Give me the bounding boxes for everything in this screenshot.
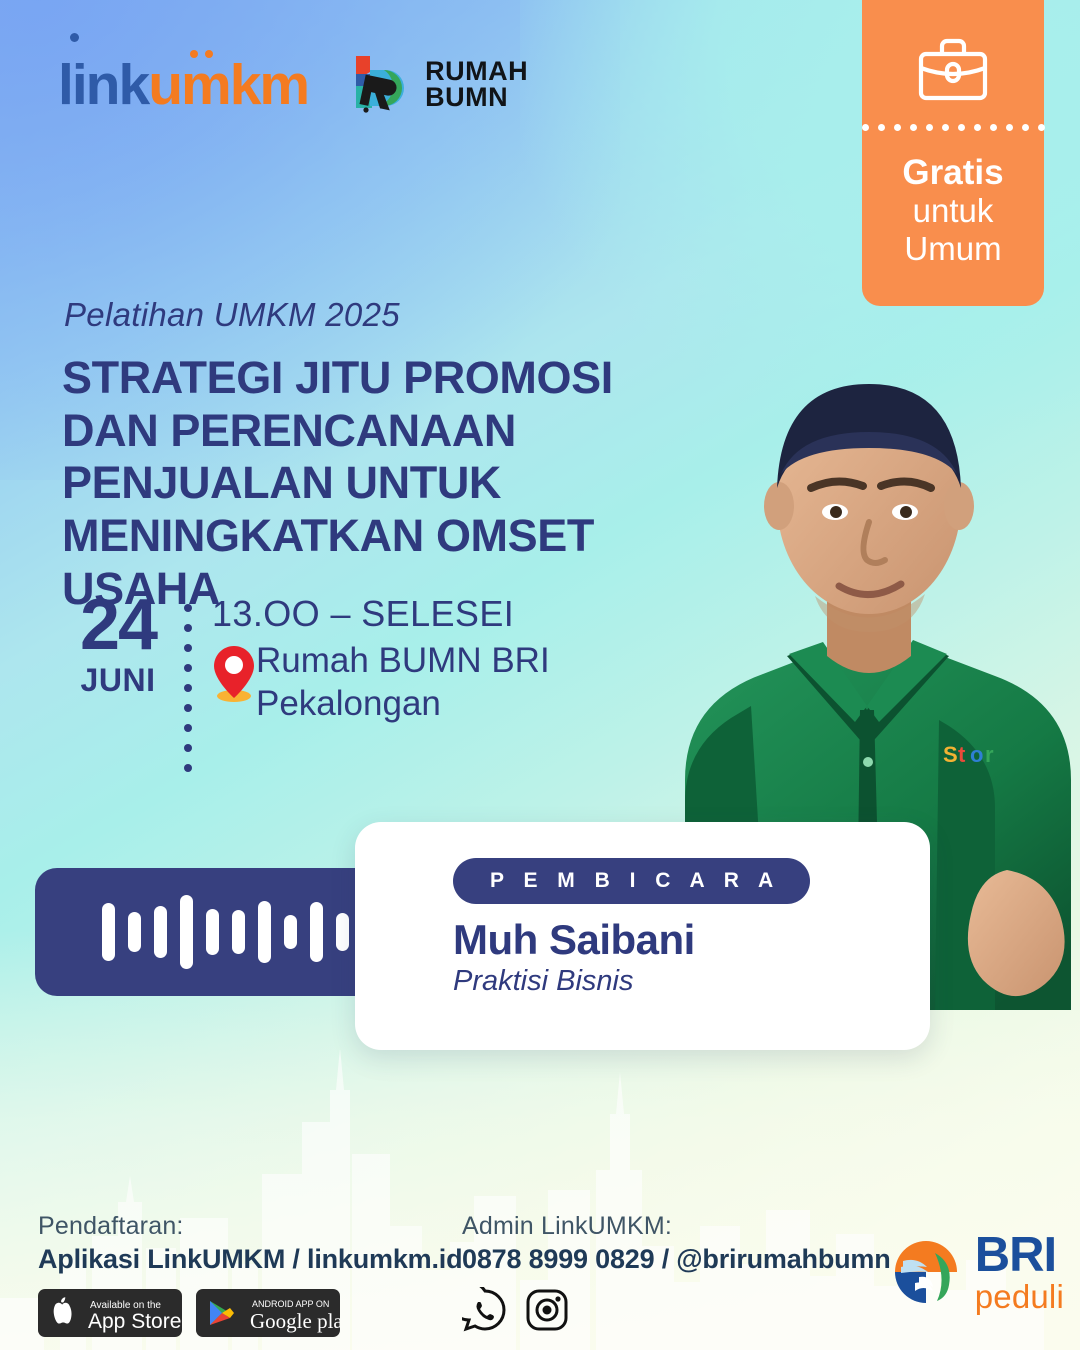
pembicara-badge: P E M B I C A R A	[453, 858, 810, 904]
bri-logo-line1: BRI	[975, 1232, 1064, 1279]
admin-contact-block: Admin LinkUMKM: 0878 8999 0829 / @brirum…	[462, 1212, 891, 1333]
registration-label: Pendaftaran:	[38, 1212, 462, 1241]
app-store-badge[interactable]: Available on the App Store	[38, 1289, 182, 1337]
svg-text:S: S	[943, 742, 958, 767]
rumah-bumn-line2: BUMN	[425, 85, 528, 111]
linkumkm-logo[interactable]: link umkm	[58, 57, 308, 114]
briefcase-icon	[915, 34, 991, 106]
linkumkm-dots-icon	[190, 50, 213, 58]
registration-value: Aplikasi LinkUMKM / linkumkm.id	[38, 1244, 462, 1275]
svg-text:ANDROID APP ON: ANDROID APP ON	[252, 1299, 329, 1309]
badge-umum-text: Umum	[904, 230, 1001, 268]
bri-logo-line2: peduli	[975, 1281, 1064, 1312]
svg-text:App Store: App Store	[88, 1310, 181, 1333]
badge-dotted-divider	[862, 124, 1045, 131]
map-pin-icon	[212, 644, 256, 702]
svg-text:t: t	[958, 742, 966, 767]
badge-untuk-text: untuk	[913, 192, 994, 230]
svg-text:o: o	[970, 742, 983, 767]
header-logos: link umkm RUMAH BUMN	[58, 52, 528, 118]
event-location-line2: Pekalongan	[256, 683, 550, 726]
rumah-bumn-mark-icon	[350, 52, 412, 118]
linkumkm-logo-link: link	[58, 57, 148, 114]
speaker-card: P E M B I C A R A Muh Saibani Praktisi B…	[355, 822, 930, 1050]
gratis-badge: Gratis untuk Umum	[862, 0, 1044, 306]
linkumkm-logo-umkm-text: umkm	[148, 53, 308, 117]
event-details: 24 JUNI 13.OO – SELESEI Rumah BUMN BRI P…	[62, 592, 550, 772]
vertical-dotted-divider	[174, 592, 202, 772]
instagram-icon[interactable]	[524, 1287, 570, 1333]
google-play-badge[interactable]: ANDROID APP ON Google play	[196, 1289, 340, 1337]
linkumkm-i-dot-icon	[70, 33, 79, 42]
linkumkm-logo-umkm: umkm	[148, 57, 308, 114]
event-date: 24 JUNI	[62, 592, 174, 699]
registration-block: Pendaftaran: Aplikasi LinkUMKM / linkumk…	[38, 1212, 462, 1337]
svg-text:r: r	[985, 742, 994, 767]
kicker-text: Pelatihan UMKM 2025	[64, 296, 400, 334]
event-location: Rumah BUMN BRI Pekalongan	[212, 640, 550, 725]
rumah-bumn-logo[interactable]: RUMAH BUMN	[350, 52, 528, 118]
event-day: 24	[62, 592, 174, 658]
event-time: 13.OO – SELESEI	[212, 592, 550, 635]
svg-text:Google play: Google play	[250, 1309, 340, 1333]
poster-canvas: link umkm RUMAH BUMN	[0, 0, 1080, 1350]
speaker-role: Praktisi Bisnis	[453, 965, 930, 998]
whatsapp-icon[interactable]	[462, 1287, 508, 1333]
bri-peduli-mark-icon	[887, 1233, 965, 1311]
speaker-name: Muh Saibani	[453, 916, 930, 964]
page-title: STRATEGI JITU PROMOSI DAN PERENCANAAN PE…	[62, 352, 662, 615]
admin-label: Admin LinkUMKM:	[462, 1212, 891, 1241]
event-location-line1: Rumah BUMN BRI	[256, 640, 550, 683]
badge-gratis-text: Gratis	[902, 153, 1003, 192]
bri-peduli-logo: BRI peduli	[887, 1232, 1064, 1312]
admin-value: 0878 8999 0829 / @brirumahbumn	[462, 1244, 891, 1275]
event-month: JUNI	[62, 662, 174, 699]
